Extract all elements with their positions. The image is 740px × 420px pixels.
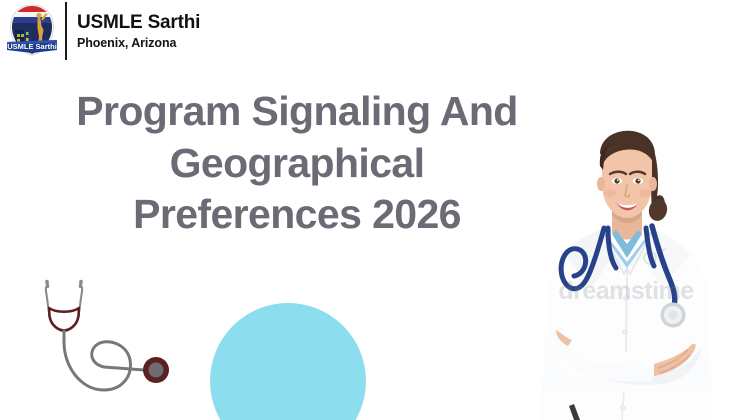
brand-header: USMLE Sarthi USMLE Sarthi Phoenix, Arizo… [0, 0, 200, 62]
header-divider [65, 2, 67, 60]
brand-location: Phoenix, Arizona [77, 37, 200, 50]
usmle-sarthi-logo-icon: USMLE Sarthi [4, 3, 60, 59]
promo-banner: USMLE Sarthi USMLE Sarthi Phoenix, Arizo… [0, 0, 740, 420]
headline-line-1: Program Signaling And [52, 86, 542, 138]
brand-name: USMLE Sarthi [77, 13, 200, 32]
female-doctor-photo: dreamstime [512, 92, 740, 420]
headline-line-3: Preferences 2026 [52, 189, 542, 241]
logo-banner-text: USMLE Sarthi [7, 42, 57, 51]
brand-text-block: USMLE Sarthi Phoenix, Arizona [77, 13, 200, 50]
page-title: Program Signaling And Geographical Prefe… [52, 86, 542, 241]
headline-line-2: Geographical [52, 138, 542, 190]
stethoscope-illustration-icon [26, 272, 178, 408]
blue-circle-decoration [210, 303, 366, 420]
